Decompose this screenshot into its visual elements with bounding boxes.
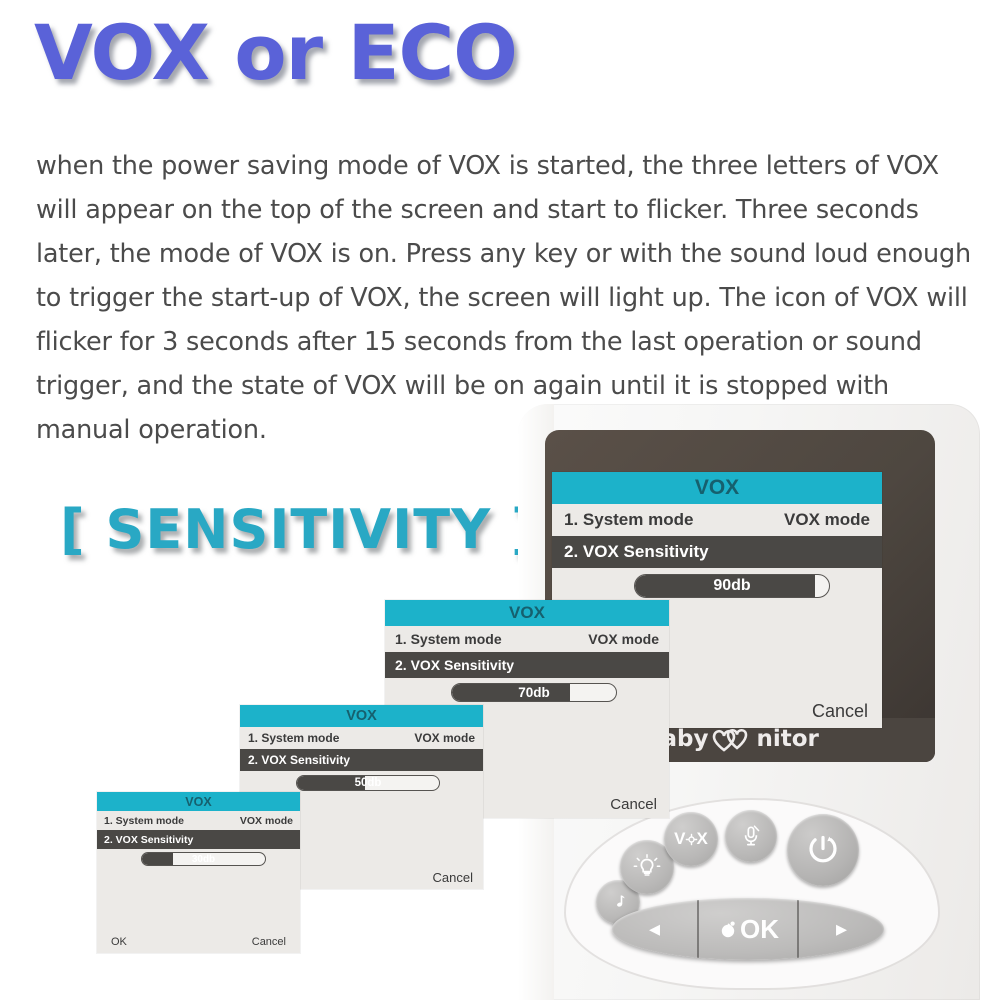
cancel-button[interactable]: Cancel xyxy=(812,701,868,722)
sensitivity-slider-50db[interactable]: 50db xyxy=(296,775,440,791)
brand-logo: baby nitor xyxy=(645,726,819,752)
vox-menu-screen-30db: VOX 1. System mode VOX mode 2. VOX Sensi… xyxy=(97,792,300,953)
dpad-ok-label: OK xyxy=(740,914,779,945)
dpad-left-button[interactable]: ◂ xyxy=(612,898,697,960)
slider-value-label: 90db xyxy=(635,577,829,595)
ok-button[interactable]: OK xyxy=(111,936,127,948)
menu-row-value: VOX mode xyxy=(240,815,293,827)
screen-footer-30db: OK Cancel xyxy=(97,931,300,953)
sensitivity-slider-wrap-90db: 90db xyxy=(552,574,882,598)
screen-header-50db: VOX xyxy=(240,705,483,727)
menu-row-value: VOX mode xyxy=(784,510,870,530)
screen-header-70db: VOX xyxy=(385,600,669,626)
menu-row-vox-sensitivity-50db[interactable]: 2. VOX Sensitivity xyxy=(240,749,483,771)
vox-button-label: V X xyxy=(674,829,708,849)
sensitivity-slider-90db[interactable]: 90db xyxy=(634,574,830,598)
dpad-right-button[interactable]: ▸ xyxy=(797,898,884,960)
menu-row-label: 1. System mode xyxy=(564,510,693,530)
sensitivity-slider-wrap-50db: 50db xyxy=(240,775,483,791)
slider-value-label: 30db xyxy=(142,854,265,865)
screen-header-30db: VOX xyxy=(97,792,300,811)
power-button[interactable] xyxy=(787,814,859,886)
vox-button[interactable]: V X xyxy=(664,812,718,866)
menu-row-label: 1. System mode xyxy=(395,631,502,647)
cancel-button[interactable]: Cancel xyxy=(433,870,473,885)
menu-row-vox-sensitivity-90db[interactable]: 2. VOX Sensitivity xyxy=(552,536,882,568)
sensitivity-slider-wrap-70db: 70db xyxy=(385,683,669,702)
menu-row-system-mode-70db[interactable]: 1. System mode VOX mode xyxy=(385,626,669,652)
slider-value-label: 50db xyxy=(297,777,439,789)
dpad-control[interactable]: ◂ OK ▸ xyxy=(612,898,884,960)
sensitivity-slider-30db[interactable]: 30db xyxy=(141,852,266,866)
screen-header-90db: VOX xyxy=(552,472,882,504)
microphone-button[interactable] xyxy=(725,810,777,862)
menu-row-value: VOX mode xyxy=(588,631,659,647)
menu-row-label: 2. VOX Sensitivity xyxy=(564,542,709,562)
power-icon xyxy=(803,830,843,870)
menu-row-label: 1. System mode xyxy=(248,731,339,745)
microphone-icon xyxy=(738,823,764,849)
heart-logo-icon xyxy=(710,726,754,752)
section-heading-sensitivity: [ SENSITIVITY ] xyxy=(60,498,537,561)
menu-row-value: VOX mode xyxy=(414,731,475,745)
menu-row-vox-sensitivity-70db[interactable]: 2. VOX Sensitivity xyxy=(385,652,669,678)
menu-row-system-mode-50db[interactable]: 1. System mode VOX mode xyxy=(240,727,483,749)
cancel-button[interactable]: Cancel xyxy=(610,796,657,813)
sensitivity-slider-wrap-30db: 30db xyxy=(97,852,300,866)
menu-row-label: 2. VOX Sensitivity xyxy=(395,657,514,673)
slider-value-label: 70db xyxy=(452,685,616,700)
menu-row-vox-sensitivity-30db[interactable]: 2. VOX Sensitivity xyxy=(97,830,300,849)
menu-row-label: 2. VOX Sensitivity xyxy=(248,753,350,767)
page-root: VOX or ECO when the power saving mode of… xyxy=(0,0,1000,1000)
dpad-ok-button[interactable]: OK xyxy=(697,898,797,960)
menu-row-label: 1. System mode xyxy=(104,815,184,827)
menu-row-system-mode-90db[interactable]: 1. System mode VOX mode xyxy=(552,504,882,536)
ok-baby-icon xyxy=(717,918,739,940)
sensitivity-slider-70db[interactable]: 70db xyxy=(451,683,617,702)
cancel-button[interactable]: Cancel xyxy=(252,936,286,948)
page-title: VOX or ECO xyxy=(34,8,517,97)
menu-row-system-mode-30db[interactable]: 1. System mode VOX mode xyxy=(97,811,300,830)
menu-row-label: 2. VOX Sensitivity xyxy=(104,834,193,846)
lullaby-bulb-icon xyxy=(633,853,661,881)
vox-button-text-x: X xyxy=(697,829,708,849)
brand-suffix: nitor xyxy=(756,726,818,752)
